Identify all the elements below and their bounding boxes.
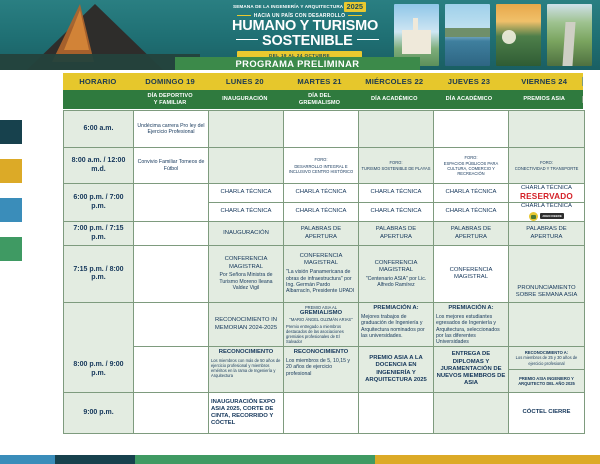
charla-tecnica-slot: CHARLA TÉCNICA bbox=[434, 202, 508, 221]
header-domingo: DOMINGO 19 bbox=[133, 77, 208, 86]
cell-viernes: FORO: CONECTIVIDAD Y TRANSPORTE bbox=[509, 148, 585, 184]
header-horario: HORARIO bbox=[63, 77, 133, 86]
row-time: 8:00 a.m. / 12:00 m.d. bbox=[64, 148, 134, 184]
photo-strip bbox=[394, 4, 592, 66]
program-strip-label: PROGRAMA PRELIMINAR bbox=[175, 57, 420, 70]
event-logo: SEMANA DE LA INGENIERÍA Y ARQUITECTURA 2… bbox=[232, 2, 367, 60]
table-row: 6:00 p.m. / 7:00 p.m. CHARLA TÉCNICA CHA… bbox=[64, 184, 585, 222]
cell-lunes bbox=[209, 111, 284, 148]
charla-tecnica-slot: CHARLA TÉCNICA bbox=[284, 184, 358, 202]
logo-eyebrow: SEMANA DE LA INGENIERÍA Y ARQUITECTURA bbox=[233, 2, 343, 12]
cell-miercoles: CONFERENCIA MAGISTRAL "Centenario ASIA" … bbox=[359, 246, 434, 303]
theme-jueves: DÍA ACADÉMICO bbox=[432, 96, 507, 103]
table-row: 7:00 p.m. / 7:15 p.m. INAUGURACIÓN PALAB… bbox=[64, 222, 585, 246]
charla-tecnica-slot: CHARLA TÉCNICA bbox=[284, 202, 358, 221]
cell-miercoles: CHARLA TÉCNICA CHARLA TÉCNICA bbox=[359, 184, 434, 222]
row-time: 9:00 p.m. bbox=[64, 393, 134, 434]
cell-jueves: FORO: ESPACIOS PÚBLICOS PARA CULTURA, CO… bbox=[434, 148, 509, 184]
logo-title-line2: SOSTENIBLE bbox=[232, 34, 367, 49]
cell-miercoles: PREMIO ASIA A LA DOCENCIA EN INGENIERÍA … bbox=[359, 347, 434, 393]
table-row: 9:00 p.m. INAUGURACIÓN EXPO ASIA 2025, C… bbox=[64, 393, 585, 434]
theme-viernes: PREMIOS ASIA bbox=[506, 96, 583, 103]
cell-jueves bbox=[434, 393, 509, 434]
row-time bbox=[64, 303, 134, 347]
volcano-photo bbox=[0, 0, 200, 70]
row-time: 7:00 p.m. / 7:15 p.m. bbox=[64, 222, 134, 246]
footer-color-bar bbox=[0, 455, 600, 464]
cell-domingo: Convivio Familiar Torneos de Fútbol bbox=[134, 148, 209, 184]
cell-jueves bbox=[434, 111, 509, 148]
cell-jueves: PREMIACIÓN A: Los mejores estudiantes eg… bbox=[434, 303, 509, 347]
charla-tecnica-slot: CHARLA TÉCNICA bbox=[359, 202, 433, 221]
table-row: 7:15 p.m. / 8:00 p.m. CONFERENCIA MAGIST… bbox=[64, 246, 585, 303]
cell-domingo: Undécima carrera Pro ley del Ejercicio P… bbox=[134, 111, 209, 148]
charla-sponsor-slot: CHARLA TÉCNICA JOHN DEERE bbox=[509, 202, 584, 221]
header-lunes: LUNES 20 bbox=[207, 77, 282, 86]
logo-year: 2025 bbox=[344, 2, 366, 12]
color-chip-column bbox=[0, 120, 22, 276]
color-chip-blue bbox=[0, 198, 22, 222]
charla-tecnica-slot: CHARLA TÉCNICA bbox=[209, 184, 283, 202]
schedule-table: 6:00 a.m. Undécima carrera Pro ley del E… bbox=[63, 110, 585, 434]
cell-viernes bbox=[509, 111, 585, 148]
cell-domingo bbox=[134, 347, 209, 393]
footer-seg-gold bbox=[375, 455, 600, 464]
cell-lunes bbox=[209, 148, 284, 184]
cell-lunes: INAUGURACIÓN bbox=[209, 222, 284, 246]
row-time: 8:00 p.m. / 9:00 p.m. bbox=[64, 347, 134, 393]
header-viernes: VIERNES 24 bbox=[506, 77, 583, 86]
theme-lunes: INAUGURACIÓN bbox=[207, 96, 282, 103]
cell-domingo bbox=[134, 246, 209, 303]
cell-viernes: RECONOCIMIENTO A: Los miembros de 25 y 3… bbox=[509, 347, 585, 393]
cell-miercoles: FORO: TURISMO SOSTENIBLE DE PLAYAS bbox=[359, 148, 434, 184]
cell-martes: PREMIO ASIA AL GREMIALISMO "MARIO ÁNGEL … bbox=[284, 303, 359, 347]
cell-miercoles: PREMIACIÓN A: Mejores trabajos de gradua… bbox=[359, 303, 434, 347]
color-chip-green bbox=[0, 237, 22, 261]
charla-reservado-slot: CHARLA TÉCNICA RESERVADO bbox=[509, 184, 584, 202]
charla-tecnica-slot: CHARLA TÉCNICA bbox=[434, 184, 508, 202]
cell-domingo bbox=[134, 393, 209, 434]
cell-viernes: PRONUNCIAMIENTO SOBRE SEMANA ASIA bbox=[509, 246, 585, 303]
cell-jueves: CONFERENCIA MAGISTRAL bbox=[434, 246, 509, 303]
logo-title-line1: HUMANO Y TURISMO bbox=[232, 19, 367, 34]
cell-martes: PALABRAS DE APERTURA bbox=[284, 222, 359, 246]
cell-domingo bbox=[134, 303, 209, 347]
row-time: 7:15 p.m. / 8:00 p.m. bbox=[64, 246, 134, 303]
cell-miercoles: PALABRAS DE APERTURA bbox=[359, 222, 434, 246]
photo-road bbox=[547, 4, 592, 66]
day-header-row: HORARIO DOMINGO 19 LUNES 20 MARTES 21 MI… bbox=[63, 73, 583, 90]
footer-seg-dark bbox=[55, 455, 135, 464]
row-time: 6:00 p.m. / 7:00 p.m. bbox=[64, 184, 134, 222]
cell-viernes: CHARLA TÉCNICA RESERVADO CHARLA TÉCNICA … bbox=[509, 184, 585, 222]
charla-tecnica-slot: CHARLA TÉCNICA bbox=[209, 202, 283, 221]
cell-jueves: CHARLA TÉCNICA CHARLA TÉCNICA bbox=[434, 184, 509, 222]
theme-miercoles: DÍA ACADÉMICO bbox=[357, 96, 432, 103]
reservado-badge: RESERVADO bbox=[520, 192, 573, 201]
photo-port bbox=[445, 4, 490, 66]
table-row: RECONOCIMIENTO IN MEMORIAN 2024-2025 PRE… bbox=[64, 303, 585, 347]
theme-martes: DÍA DELGREMIALISMO bbox=[282, 93, 357, 107]
cell-martes: CONFERENCIA MAGISTRAL "La visión Panamer… bbox=[284, 246, 359, 303]
cell-lunes: RECONOCIMIENTO Los miembros con más de 5… bbox=[209, 347, 284, 393]
cell-martes: FORO: DESARROLLO INTEGRAL E INCLUSIVO CE… bbox=[284, 148, 359, 184]
color-chip-dark bbox=[0, 120, 22, 144]
cell-martes: CHARLA TÉCNICA CHARLA TÉCNICA bbox=[284, 184, 359, 222]
header-jueves: JUEVES 23 bbox=[432, 77, 507, 86]
cell-domingo bbox=[134, 184, 209, 222]
theme-domingo: DÍA DEPORTIVOY FAMILIAR bbox=[133, 93, 208, 107]
table-row: 8:00 p.m. / 9:00 p.m. RECONOCIMIENTO Los… bbox=[64, 347, 585, 393]
cell-domingo bbox=[134, 222, 209, 246]
footer-seg-green bbox=[135, 455, 375, 464]
footer-seg-blue bbox=[0, 455, 55, 464]
sun-icon bbox=[529, 212, 538, 221]
cell-martes bbox=[284, 111, 359, 148]
cell-lunes: INAUGURACIÓN EXPO ASIA 2025, CORTE DE CI… bbox=[209, 393, 284, 434]
charla-tecnica-slot: CHARLA TÉCNICA bbox=[359, 184, 433, 202]
table-row: 8:00 a.m. / 12:00 m.d. Convivio Familiar… bbox=[64, 148, 585, 184]
cell-jueves: PALABRAS DE APERTURA bbox=[434, 222, 509, 246]
cell-lunes: RECONOCIMIENTO IN MEMORIAN 2024-2025 bbox=[209, 303, 284, 347]
theme-header-row: DÍA DEPORTIVOY FAMILIAR INAUGURACIÓN DÍA… bbox=[63, 90, 583, 109]
sponsor-label: JOHN DEERE bbox=[540, 213, 564, 219]
john-deere-logo: JOHN DEERE bbox=[529, 212, 564, 221]
header-miercoles: MIÉRCOLES 22 bbox=[357, 77, 432, 86]
premio-slot: PREMIO ASIA INGENIERO Y ARQUITECTO DEL A… bbox=[509, 369, 584, 392]
cell-miercoles bbox=[359, 393, 434, 434]
cell-lunes: CHARLA TÉCNICA CHARLA TÉCNICA bbox=[209, 184, 284, 222]
cell-viernes: PALABRAS DE APERTURA bbox=[509, 222, 585, 246]
photo-nature bbox=[496, 4, 541, 66]
cell-miercoles bbox=[359, 111, 434, 148]
program-poster: SEMANA DE LA INGENIERÍA Y ARQUITECTURA 2… bbox=[0, 0, 600, 464]
cell-martes: RECONOCIMIENTO Los miembros de 5, 10,15 … bbox=[284, 347, 359, 393]
header-martes: MARTES 21 bbox=[282, 77, 357, 86]
color-chip-gold bbox=[0, 159, 22, 183]
reconocimiento-slot: RECONOCIMIENTO A: Los miembros de 25 y 3… bbox=[509, 347, 584, 369]
row-time: 6:00 a.m. bbox=[64, 111, 134, 148]
table-row: 6:00 a.m. Undécima carrera Pro ley del E… bbox=[64, 111, 585, 148]
cell-lunes: CONFERENCIA MAGISTRAL Por Señora Ministr… bbox=[209, 246, 284, 303]
cell-jueves: ENTREGA DE DIPLOMAS Y JURAMENTACIÓN DE N… bbox=[434, 347, 509, 393]
cell-viernes: CÓCTEL CIERRE bbox=[509, 393, 585, 434]
cell-martes bbox=[284, 393, 359, 434]
cell-viernes bbox=[509, 303, 585, 347]
